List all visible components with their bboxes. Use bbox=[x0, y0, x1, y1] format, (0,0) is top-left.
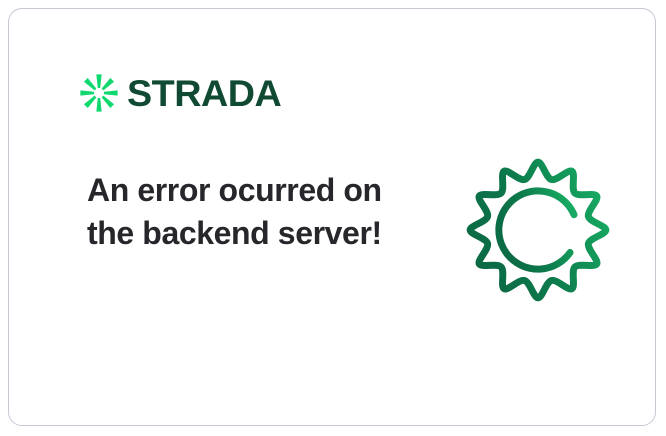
error-headline: An error ocurred on the backend server! bbox=[87, 169, 387, 255]
brand-wordmark: STRADA bbox=[127, 75, 281, 112]
gear-cog-icon bbox=[451, 143, 625, 317]
strada-asterisk-mark-icon bbox=[80, 74, 118, 112]
brand-logo: STRADA bbox=[80, 71, 278, 115]
error-card: STRADA An error ocurred on the backend s… bbox=[8, 8, 656, 426]
